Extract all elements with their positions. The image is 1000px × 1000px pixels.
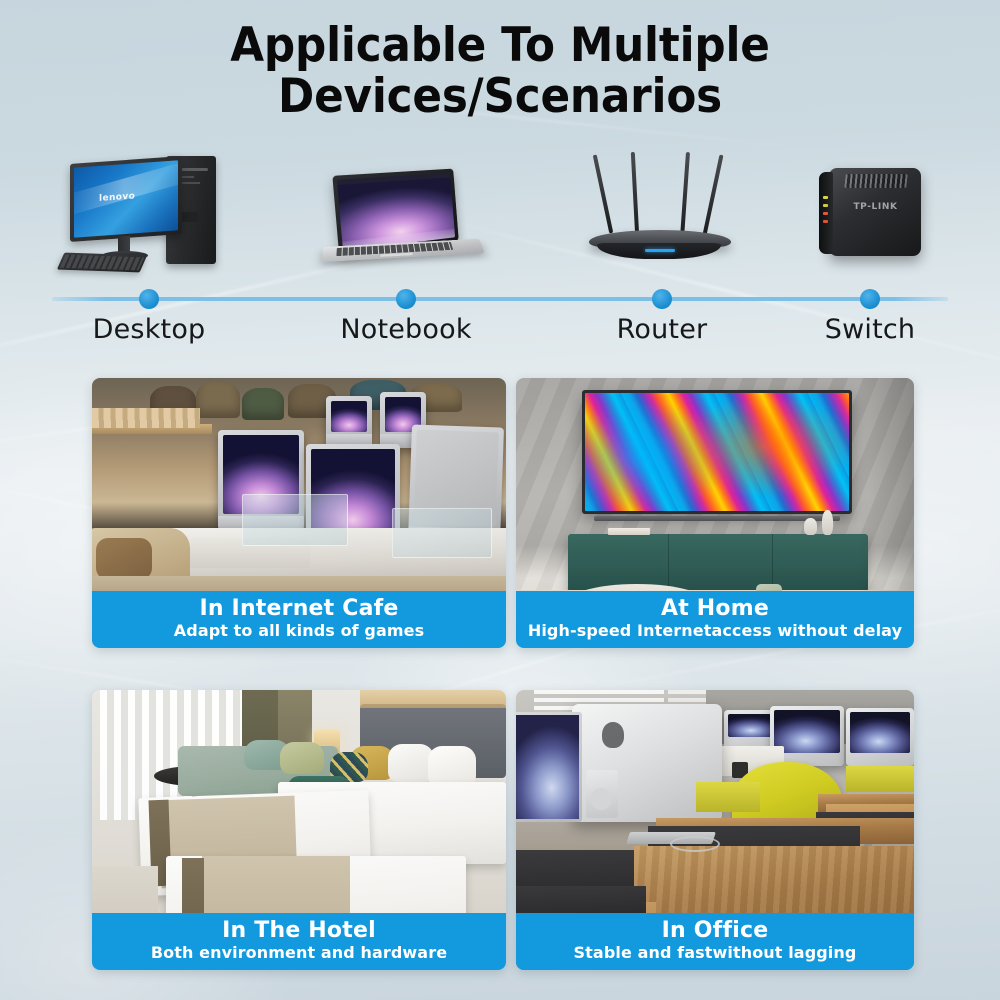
- caption-subtitle: High-speed Internetaccess without delay: [522, 621, 908, 641]
- caption-hotel: In The Hotel Both environment and hardwa…: [92, 913, 506, 970]
- device-label-switch: Switch: [770, 314, 970, 345]
- caption-subtitle: Adapt to all kinds of games: [98, 621, 500, 641]
- caption-title: In The Hotel: [98, 918, 500, 943]
- device-label-notebook: Notebook: [306, 314, 506, 345]
- scene-card-hotel[interactable]: In The Hotel Both environment and hardwa…: [92, 690, 506, 970]
- caption-office: In Office Stable and fastwithout lagging: [516, 913, 914, 970]
- caption-at-home: At Home High-speed Internetaccess withou…: [516, 591, 914, 648]
- scene-card-office[interactable]: In Office Stable and fastwithout lagging: [516, 690, 914, 970]
- page-title-line-2: Devices/Scenarios: [35, 71, 965, 122]
- caption-subtitle: Stable and fastwithout lagging: [522, 943, 908, 963]
- infographic-page: Applicable To Multiple Devices/Scenarios…: [0, 0, 1000, 1000]
- device-marker-dot: [860, 289, 880, 309]
- page-title: Applicable To Multiple Devices/Scenarios: [35, 20, 965, 122]
- wifi-router-icon: [553, 146, 768, 286]
- wall-television: [582, 390, 852, 514]
- caption-internet-cafe: In Internet Cafe Adapt to all kinds of g…: [92, 591, 506, 648]
- page-title-line-1: Applicable To Multiple: [230, 18, 769, 73]
- scene-card-internet-cafe[interactable]: In Internet Cafe Adapt to all kinds of g…: [92, 378, 506, 648]
- caption-title: At Home: [522, 596, 908, 621]
- device-connector-rail: [52, 297, 948, 301]
- device-label-router: Router: [562, 314, 762, 345]
- scene-card-at-home[interactable]: At Home High-speed Internetaccess withou…: [516, 378, 914, 648]
- device-label-desktop: Desktop: [49, 314, 249, 345]
- device-marker-dot: [652, 289, 672, 309]
- laptop-icon: [300, 146, 515, 286]
- device-marker-dot: [139, 289, 159, 309]
- caption-title: In Internet Cafe: [98, 596, 500, 621]
- desktop-computer-icon: lenovo: [48, 146, 263, 286]
- caption-subtitle: Both environment and hardware: [98, 943, 500, 963]
- device-marker-dot: [396, 289, 416, 309]
- caption-title: In Office: [522, 918, 908, 943]
- network-switch-icon: TP-LINK: [790, 146, 965, 286]
